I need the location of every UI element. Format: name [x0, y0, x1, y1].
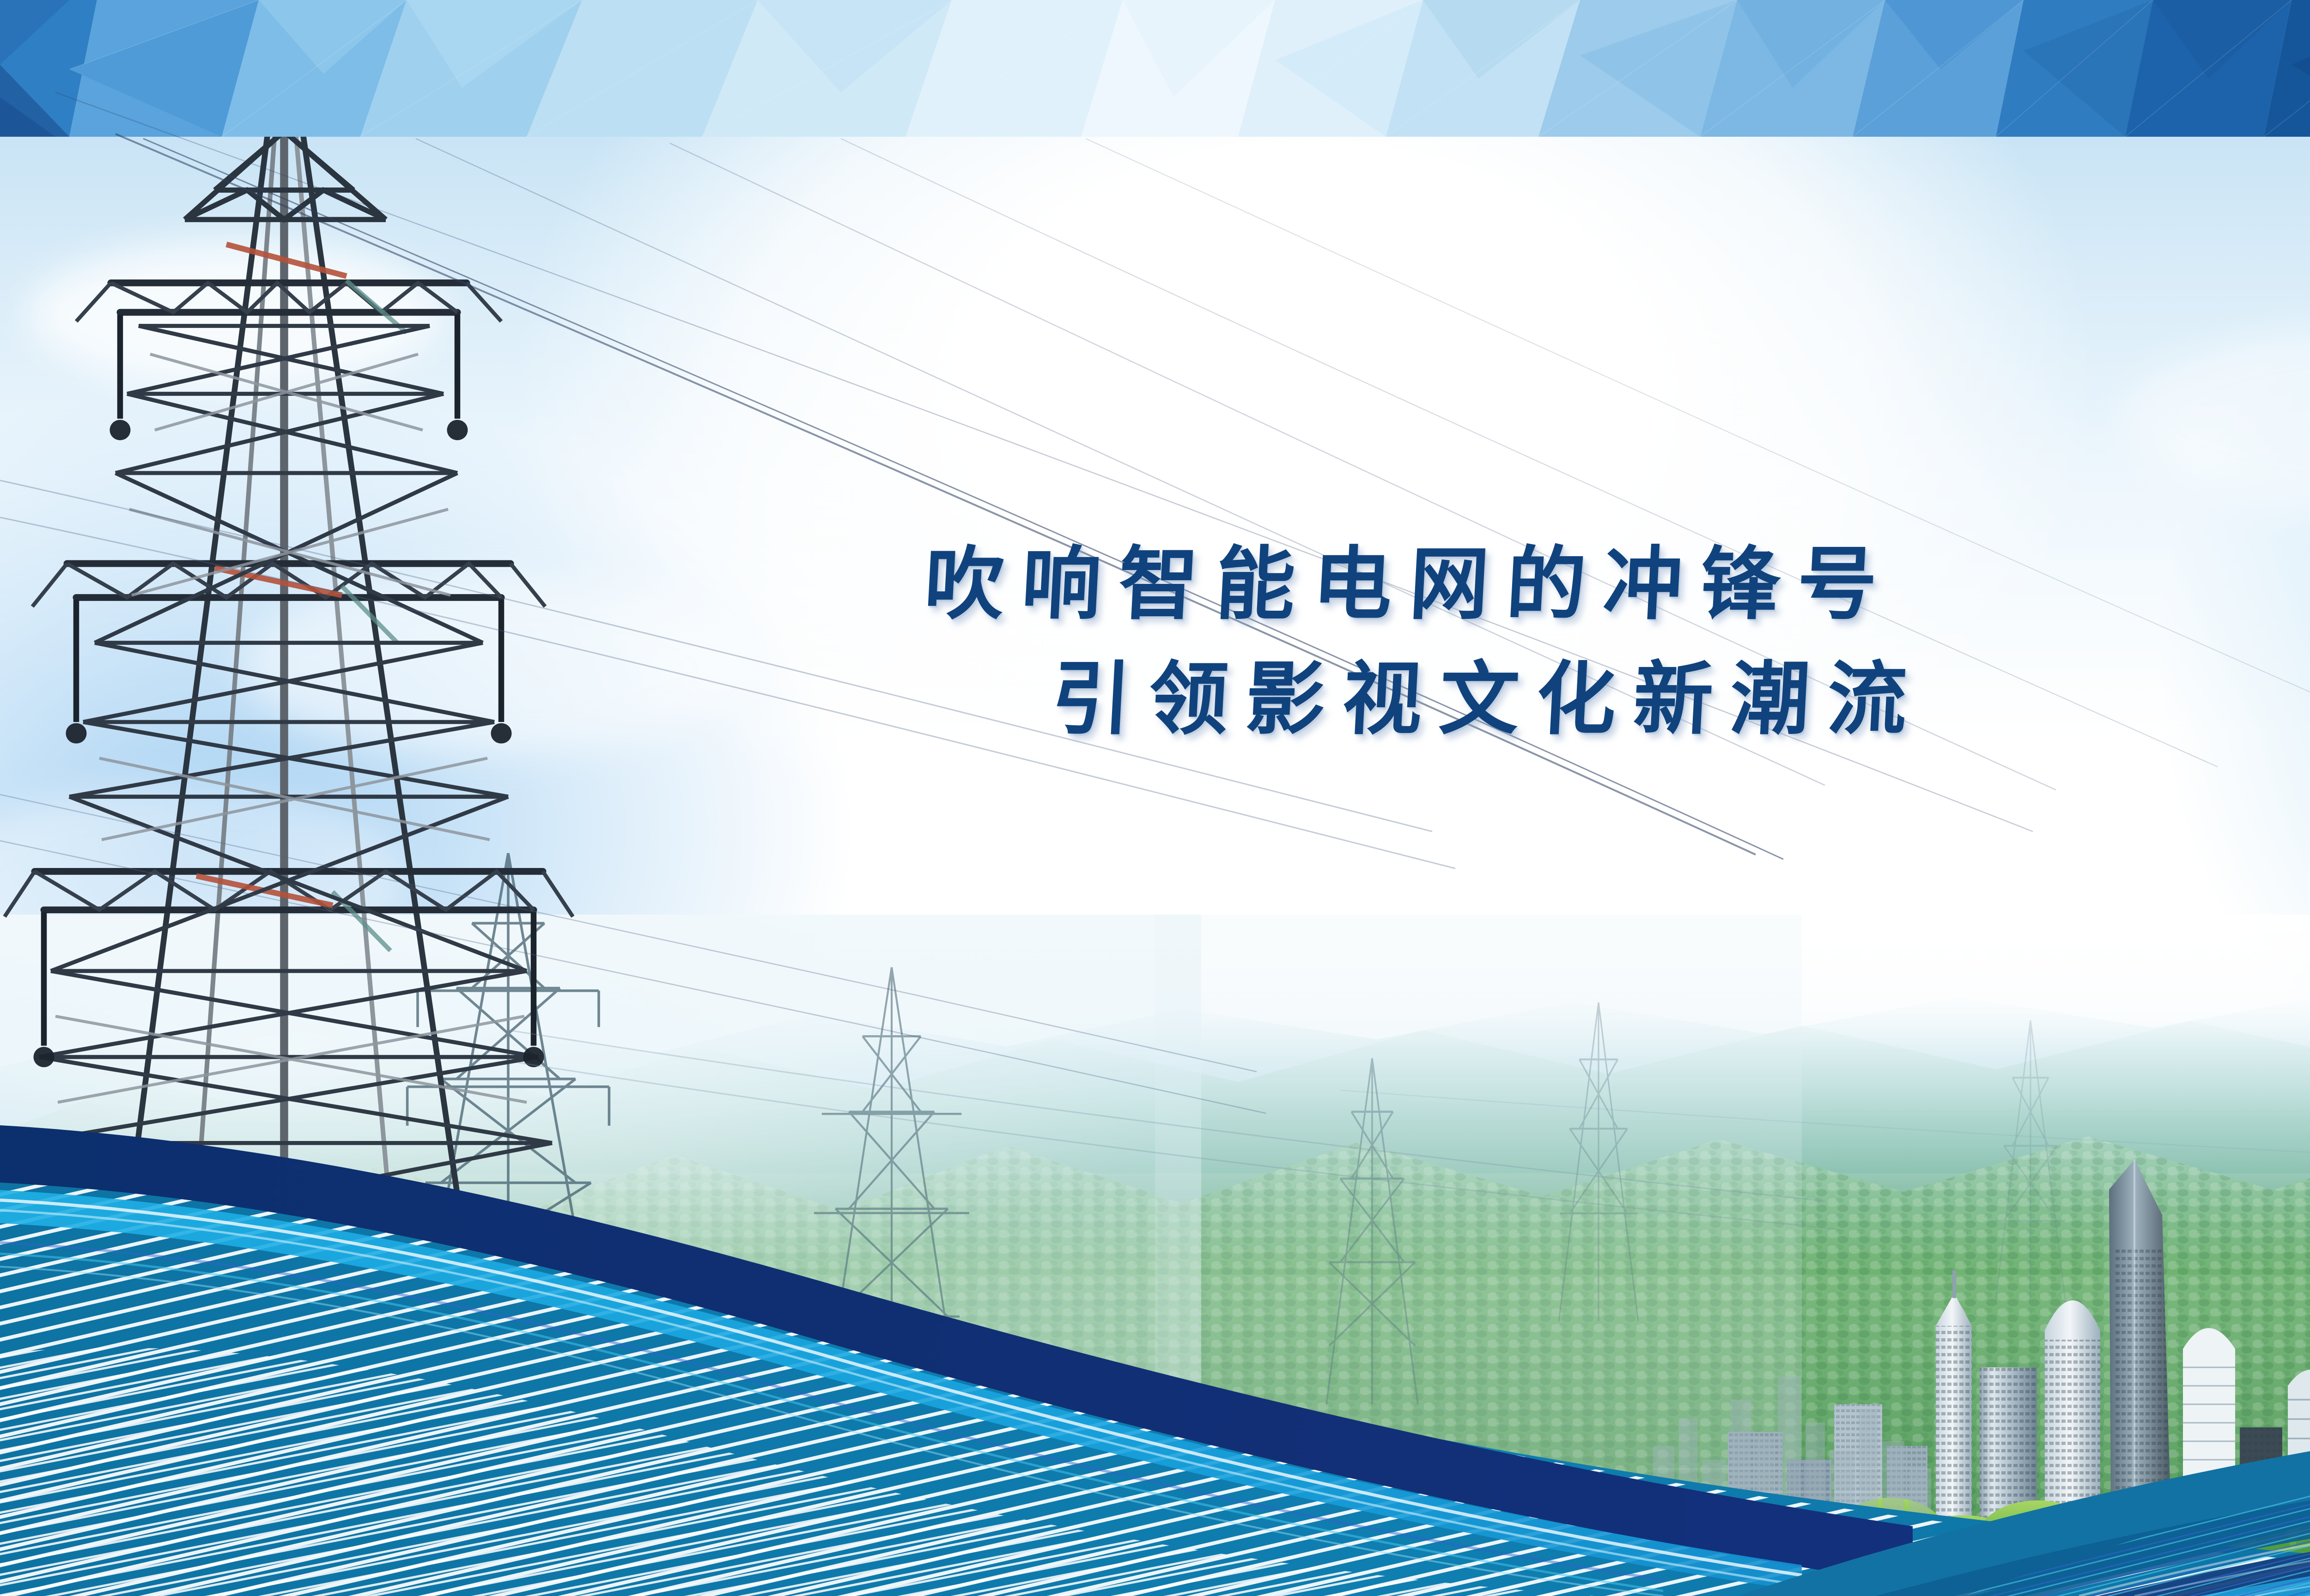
transmission-tower-mid-3: [1303, 1053, 1441, 1404]
poster-banner: 吹响智能电网的冲锋号 引领影视文化新潮流: [0, 0, 2310, 1596]
headline-line-1: 吹响智能电网的冲锋号: [0, 531, 2310, 636]
city-skyline-distant: [1645, 1330, 1940, 1547]
transmission-tower-mid-4: [1538, 998, 1659, 1321]
top-polygon-band: [0, 0, 2310, 137]
transmission-tower-mid-2: [795, 961, 989, 1414]
headline-block: 吹响智能电网的冲锋号 引领影视文化新潮流: [0, 531, 2310, 751]
headline-line-2: 引领影视文化新潮流: [136, 646, 2310, 751]
